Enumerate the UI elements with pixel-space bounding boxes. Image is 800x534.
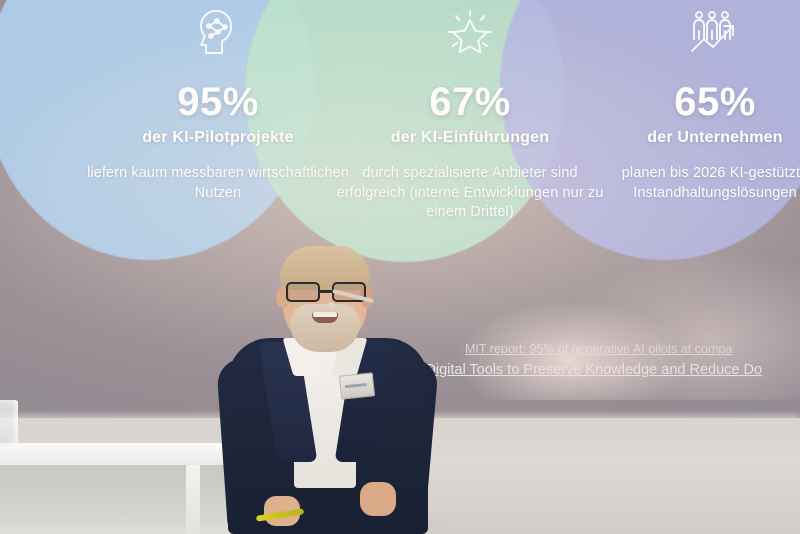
stat-body-2: durch spezialisierte Anbieter sind erfol… xyxy=(330,164,610,223)
stat-body-1: liefern kaum messbaren wirtschaftlichen … xyxy=(78,164,358,203)
people-growth-chart-icon xyxy=(590,4,800,62)
name-badge-text-line xyxy=(345,383,367,388)
counter-table xyxy=(0,443,238,534)
stat-body-3: planen bis 2026 KI-gestützte Instandhalt… xyxy=(590,164,800,203)
stat-subtitle-1: der KI-Pilotprojekte xyxy=(78,129,358,147)
stat-value-3: 65% xyxy=(590,80,800,124)
citation-link-1[interactable]: MIT report: 95% of generative AI pilots … xyxy=(465,342,732,356)
speaker-figure xyxy=(228,246,428,534)
counter-leg xyxy=(186,465,200,534)
stat-value-1: 95% xyxy=(78,80,358,124)
speaker-right-hand xyxy=(360,482,396,516)
glasses-bridge xyxy=(320,290,332,293)
stat-value-2: 67% xyxy=(330,80,610,124)
stat-column-3: 65% der Unternehmen planen bis 2026 KI-g… xyxy=(590,4,800,203)
stat-column-1: 95% der KI-Pilotprojekte liefern kaum me… xyxy=(78,4,358,203)
stat-subtitle-2: der KI-Einführungen xyxy=(330,129,610,147)
sparkling-star-icon xyxy=(330,4,610,62)
stage-scene: 95% der KI-Pilotprojekte liefern kaum me… xyxy=(0,0,800,534)
stat-subtitle-3: der Unternehmen xyxy=(590,129,800,147)
head-with-circuit-brain-icon xyxy=(78,4,358,62)
name-badge xyxy=(339,372,375,399)
counter-top-surface xyxy=(0,443,238,465)
speaker-teeth xyxy=(313,312,337,317)
speaker-glasses xyxy=(284,282,368,302)
drinking-glass xyxy=(0,400,18,446)
stat-column-2: 67% der KI-Einführungen durch spezialisi… xyxy=(330,4,610,223)
glasses-lens-left xyxy=(286,282,320,302)
headset-microphone-tip xyxy=(328,302,335,309)
